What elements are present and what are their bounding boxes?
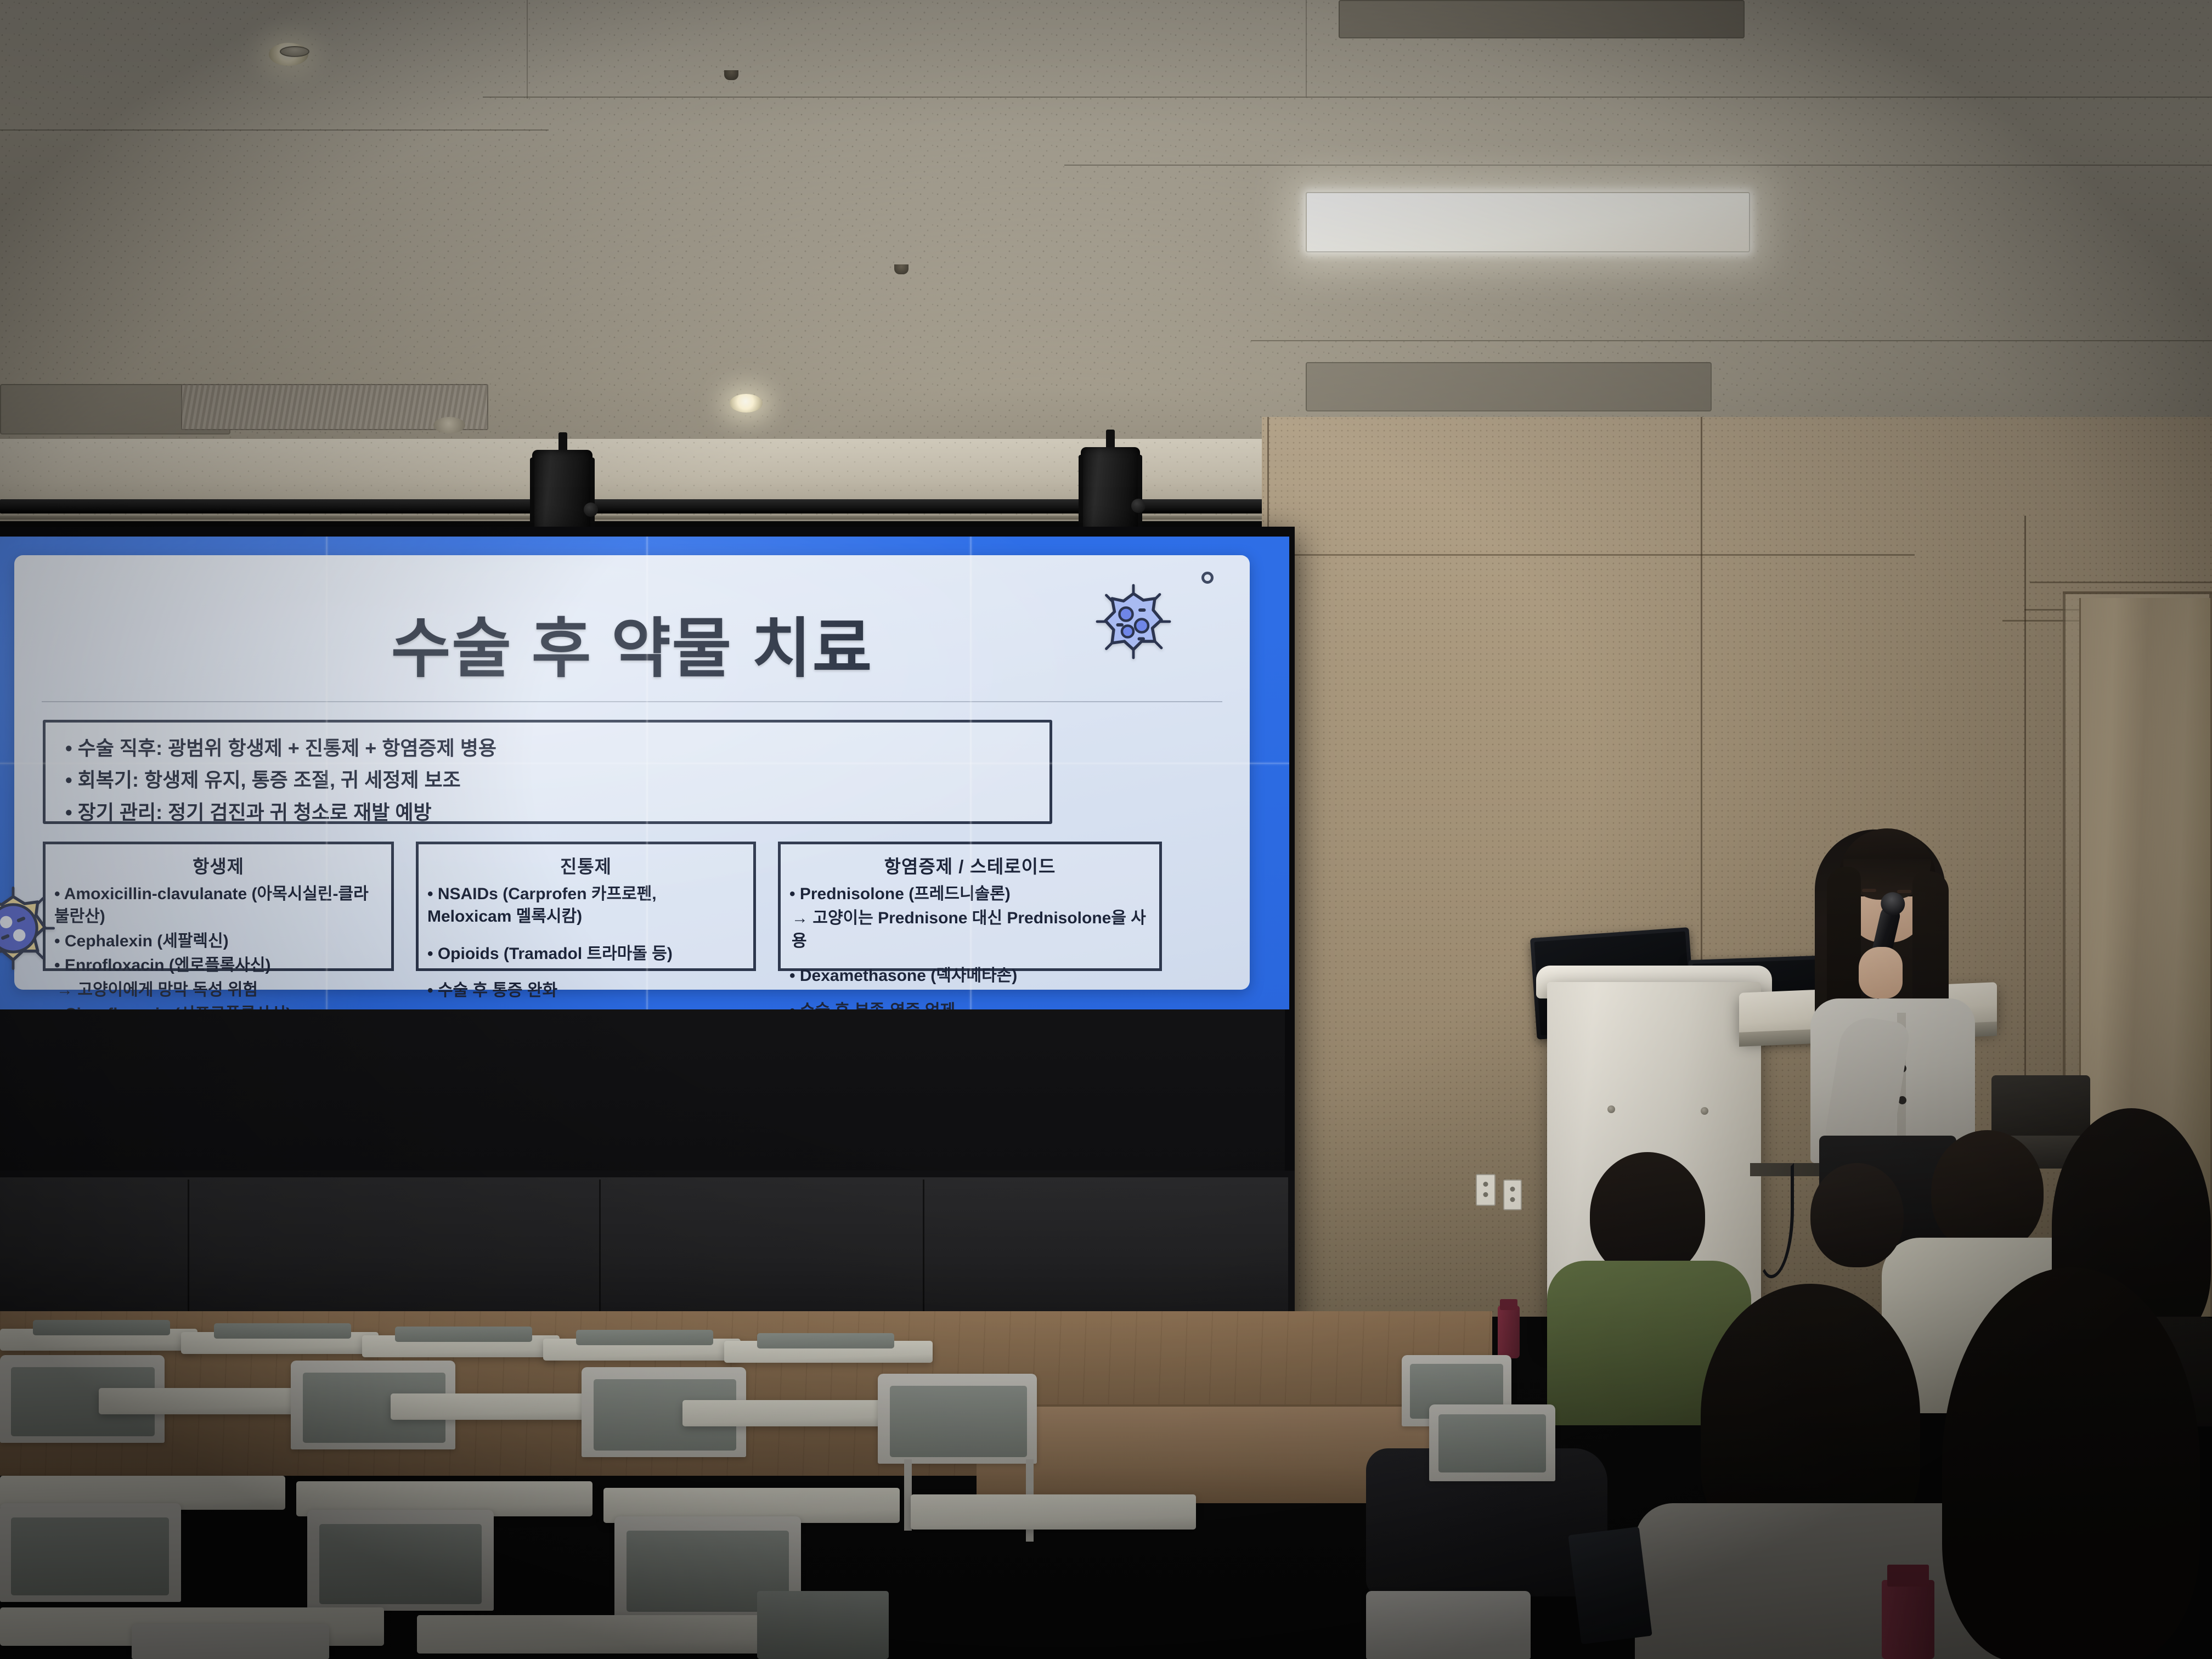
desk-surface	[99, 1388, 318, 1414]
seat-cushion	[757, 1591, 889, 1659]
slide-decorative-dot	[1201, 572, 1214, 584]
column-item: Enrofloxacin (엔로플록사신)	[54, 954, 382, 977]
panel-seam	[923, 1180, 924, 1316]
presentation-screen[interactable]: 수술 후 약물 치료 수술 직후: 광범위 항생제 + 진통제 + 항염증제 병…	[0, 537, 1289, 1009]
seat-cushion	[1438, 1414, 1546, 1472]
seat-cushion	[214, 1323, 351, 1339]
slide-column-antibiotics: 항생제 Amoxicillin-clavulanate (아목시실린-클라불란산…	[43, 842, 394, 971]
sprinkler-head	[724, 70, 738, 80]
ceiling-seam	[1306, 0, 1307, 97]
screen-base-panel	[0, 1171, 1295, 1324]
smoke-detector	[280, 46, 309, 57]
column-heading: 진통제	[427, 852, 744, 878]
video-wall-seam	[646, 537, 648, 1009]
presenter-hand	[1859, 947, 1903, 998]
phone[interactable]	[1568, 1527, 1652, 1644]
wall-seam	[2030, 582, 2212, 583]
slide-summary-box: 수술 직후: 광범위 항생제 + 진통제 + 항염증제 병용 회복기: 항생제 …	[43, 720, 1052, 824]
ceiling-panel-light	[1306, 192, 1750, 252]
presenter	[1805, 806, 1986, 1158]
seat-cushion	[319, 1524, 482, 1604]
wall-power-outlet	[1476, 1174, 1496, 1206]
spotlight-yoke	[1079, 455, 1083, 537]
spotlight-knob	[584, 503, 598, 517]
attendee-dark-hair-front	[1909, 1267, 2212, 1659]
column-item: Amoxicillin-clavulanate (아목시실린-클라불란산)	[54, 883, 382, 928]
desk-surface	[682, 1400, 902, 1426]
summary-bullet: 수술 직후: 광범위 항생제 + 진통제 + 항염증제 병용	[65, 732, 1049, 764]
lecture-hall-photo: 수술 후 약물 치료 수술 직후: 광범위 항생제 + 진통제 + 항염증제 병…	[0, 0, 2212, 1659]
ceiling-seam	[483, 97, 2212, 98]
desk-surface	[391, 1393, 610, 1420]
seat-cushion	[33, 1320, 170, 1335]
spotlight-knob	[1131, 499, 1145, 513]
ceiling-panel-light-off	[1339, 0, 1745, 38]
germ-icon	[1092, 580, 1175, 665]
wall-seam	[1262, 554, 1915, 556]
ceiling-downlight-off	[433, 417, 465, 433]
column-item: Ciprofloxacin (시프로플록사신)	[54, 1003, 382, 1009]
summary-bullet: 장기 관리: 정기 검진과 귀 청소로 재발 예방	[65, 797, 1049, 828]
ceiling-seam	[1251, 340, 2212, 341]
seat-back[interactable]	[132, 1624, 329, 1659]
presenter-eye	[1862, 889, 1876, 892]
column-subitem: 고양이에게 망막 독성 위험	[54, 979, 382, 1001]
video-wall-seam	[970, 537, 972, 1009]
desk-surface	[911, 1494, 1196, 1530]
column-item: NSAIDs (Carprofen 카프로펜, Meloxicam 멜록시캄)	[427, 883, 744, 928]
seat-cushion	[576, 1330, 713, 1345]
podium-fastener	[1701, 1107, 1708, 1115]
attendee-head	[1810, 1163, 1904, 1267]
attendee-behind	[1794, 1163, 1920, 1306]
column-heading: 항생제	[54, 852, 382, 878]
slide-title: 수술 후 약물 치료	[14, 596, 1250, 690]
ceiling-seam	[0, 129, 549, 131]
summary-bullet: 회복기: 항생제 유지, 통증 조절, 귀 세정제 보조	[65, 764, 1049, 796]
panel-seam	[599, 1180, 601, 1316]
slide-columns: 항생제 Amoxicillin-clavulanate (아목시실린-클라불란산…	[43, 842, 1217, 971]
bottle-cap	[1887, 1565, 1929, 1587]
ceiling-downlight	[730, 394, 763, 413]
spotlight-yoke	[1138, 455, 1142, 537]
germ-icon	[0, 884, 57, 975]
ceiling-seam	[527, 0, 528, 99]
ceiling-seam	[1064, 165, 2212, 166]
wall-power-outlet	[1503, 1180, 1522, 1210]
slide-divider	[42, 701, 1222, 702]
slide-column-analgesics: 진통제 NSAIDs (Carprofen 카프로펜, Meloxicam 멜록…	[416, 842, 756, 971]
column-item: Opioids (Tramadol 트라마돌 등)	[427, 943, 744, 965]
slide-card: 수술 후 약물 치료 수술 직후: 광범위 항생제 + 진통제 + 항염증제 병…	[14, 555, 1250, 990]
seat-cushion	[757, 1333, 894, 1348]
ceiling-panel-light-off	[1306, 362, 1712, 411]
panel-seam	[188, 1180, 189, 1316]
video-wall-seam	[326, 537, 328, 1009]
lighting-track	[0, 499, 1372, 513]
sprinkler-head	[894, 264, 909, 274]
seat-cushion	[395, 1327, 532, 1342]
attendee-head	[1590, 1152, 1705, 1278]
column-item: Cephalexin (세팔렉신)	[54, 930, 382, 952]
seat-back[interactable]	[1366, 1591, 1531, 1659]
desk-surface	[417, 1615, 801, 1654]
seat-cushion	[890, 1386, 1027, 1457]
bottle-cap	[1500, 1299, 1517, 1310]
column-item: 수술 후 통증 완화	[427, 979, 744, 1002]
presenter-eye	[1897, 890, 1911, 893]
attendee-hair	[1942, 1267, 2200, 1659]
drink-bottle[interactable]	[1498, 1306, 1520, 1358]
podium-fastener	[1607, 1105, 1615, 1113]
video-wall-seam	[0, 763, 1289, 764]
drink-bottle[interactable]	[1882, 1580, 1934, 1659]
seat-cushion	[11, 1517, 169, 1595]
